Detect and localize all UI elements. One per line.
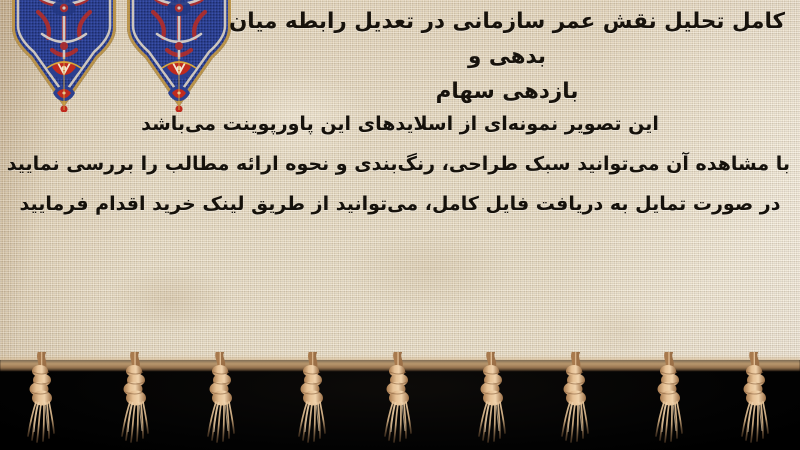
body-line-1: این تصویر نمونه‌ای از اسلایدهای این پاور…	[10, 104, 790, 144]
slide-title-line-2: بازدهی سهام	[436, 79, 579, 104]
fringe-tassel	[290, 352, 336, 448]
carpet-fringe-tassels	[0, 352, 800, 450]
slide-title: کامل تحلیل نقش عمر سازمانی در تعدیل رابط…	[222, 4, 792, 109]
fringe-tassel	[646, 352, 692, 448]
fringe-tassel	[112, 352, 158, 448]
body-line-2: با مشاهده آن می‌توانید سبک طراحی، رنگ‌بن…	[10, 144, 790, 184]
presentation-slide: کامل تحلیل نقش عمر سازمانی در تعدیل رابط…	[0, 0, 800, 450]
fringe-tassel	[731, 352, 777, 448]
fringe-tassel	[468, 352, 514, 448]
persian-medallion-motif-left	[8, 0, 120, 112]
fringe-tassel	[553, 352, 599, 448]
fringe-tassel	[19, 352, 65, 448]
slide-title-line-1: کامل تحلیل نقش عمر سازمانی در تعدیل رابط…	[229, 9, 785, 69]
slide-body-text: این تصویر نمونه‌ای از اسلایدهای این پاور…	[10, 104, 790, 224]
persian-medallion-motif-right	[123, 0, 235, 112]
fringe-tassel	[375, 352, 421, 448]
body-line-3: در صورت تمایل به دریافت فایل کامل، می‌تو…	[10, 184, 790, 224]
fringe-tassel	[197, 352, 243, 448]
